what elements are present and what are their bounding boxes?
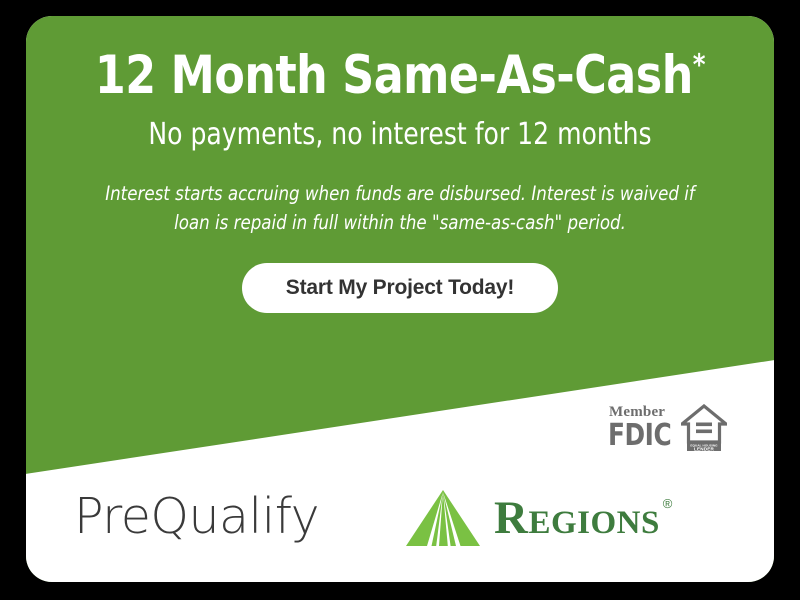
fdic-equal-housing-cluster: Member FDIC EQUAL HOUSING LENDER [608,404,727,451]
regions-pyramid-icon [406,490,480,546]
ad-banner-stage: 12 Month Same-As-Cash* No payments, no i… [0,0,800,600]
fdic-label: FDIC [608,421,671,451]
regions-wordmark: Regions® [494,495,660,542]
footer-bar: PreQualify Regions® [26,486,774,582]
regions-wordmark-text: Regions [494,492,660,544]
disclaimer-text: Interest starts accruing when funds are … [96,151,704,238]
regions-logo: Regions® [406,490,660,546]
equal-housing-lender-icon: EQUAL HOUSING LENDER [681,404,727,451]
cta-container: Start My Project Today! [26,237,774,313]
member-fdic-logo: Member FDIC [608,405,677,451]
registered-trademark-mark: ® [663,497,673,510]
start-my-project-button[interactable]: Start My Project Today! [242,263,558,313]
promo-content: 12 Month Same-As-Cash* No payments, no i… [26,16,774,313]
subheadline: No payments, no interest for 12 months [52,104,748,151]
ad-card: 12 Month Same-As-Cash* No payments, no i… [26,16,774,582]
equal-housing-line2: LENDER [694,446,715,451]
footnote-asterisk: * [693,47,705,81]
prequalify-label: PreQualify [74,492,319,541]
headline-text: 12 Month Same-As-Cash [95,45,693,106]
page-title: 12 Month Same-As-Cash* [52,16,748,104]
